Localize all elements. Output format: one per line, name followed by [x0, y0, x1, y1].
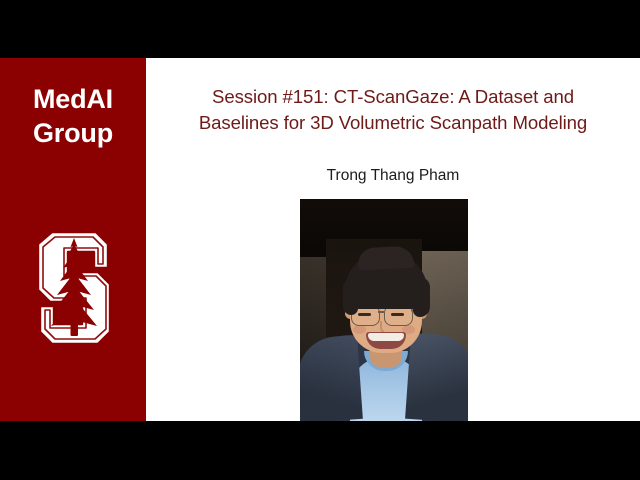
speaker-jacket-right [405, 333, 468, 421]
letterbox-bar-top [0, 0, 640, 58]
speaker-teeth [368, 333, 404, 341]
speaker-photo-scene [300, 199, 468, 421]
slide-sidebar: MedAI Group [0, 58, 146, 421]
session-title-line-2: Baselines for 3D Volumetric Scanpath Mod… [152, 110, 634, 136]
speaker-cheek-left [353, 325, 366, 334]
speaker-photo [300, 199, 468, 421]
speaker-hair-top [357, 246, 414, 271]
speaker-name: Trong Thang Pham [152, 167, 634, 185]
presentation-slide: MedAI Group [0, 58, 640, 421]
speaker-hair-left [343, 279, 358, 315]
speaker-jacket-left [300, 335, 363, 421]
slide-main-panel: Session #151: CT-ScanGaze: A Dataset and… [146, 58, 640, 421]
glasses-bridge [378, 311, 384, 313]
stanford-block-s-tree-logo [28, 226, 120, 350]
brand-title: MedAI Group [0, 82, 146, 150]
letterbox-bar-bottom [0, 421, 640, 480]
speaker-hair-right [413, 277, 430, 317]
brand-title-line-1: MedAI [0, 82, 146, 116]
video-player-frame: MedAI Group [0, 0, 640, 480]
brand-title-line-2: Group [0, 116, 146, 150]
session-title-line-1: Session #151: CT-ScanGaze: A Dataset and [152, 84, 634, 110]
session-title: Session #151: CT-ScanGaze: A Dataset and… [152, 84, 634, 137]
